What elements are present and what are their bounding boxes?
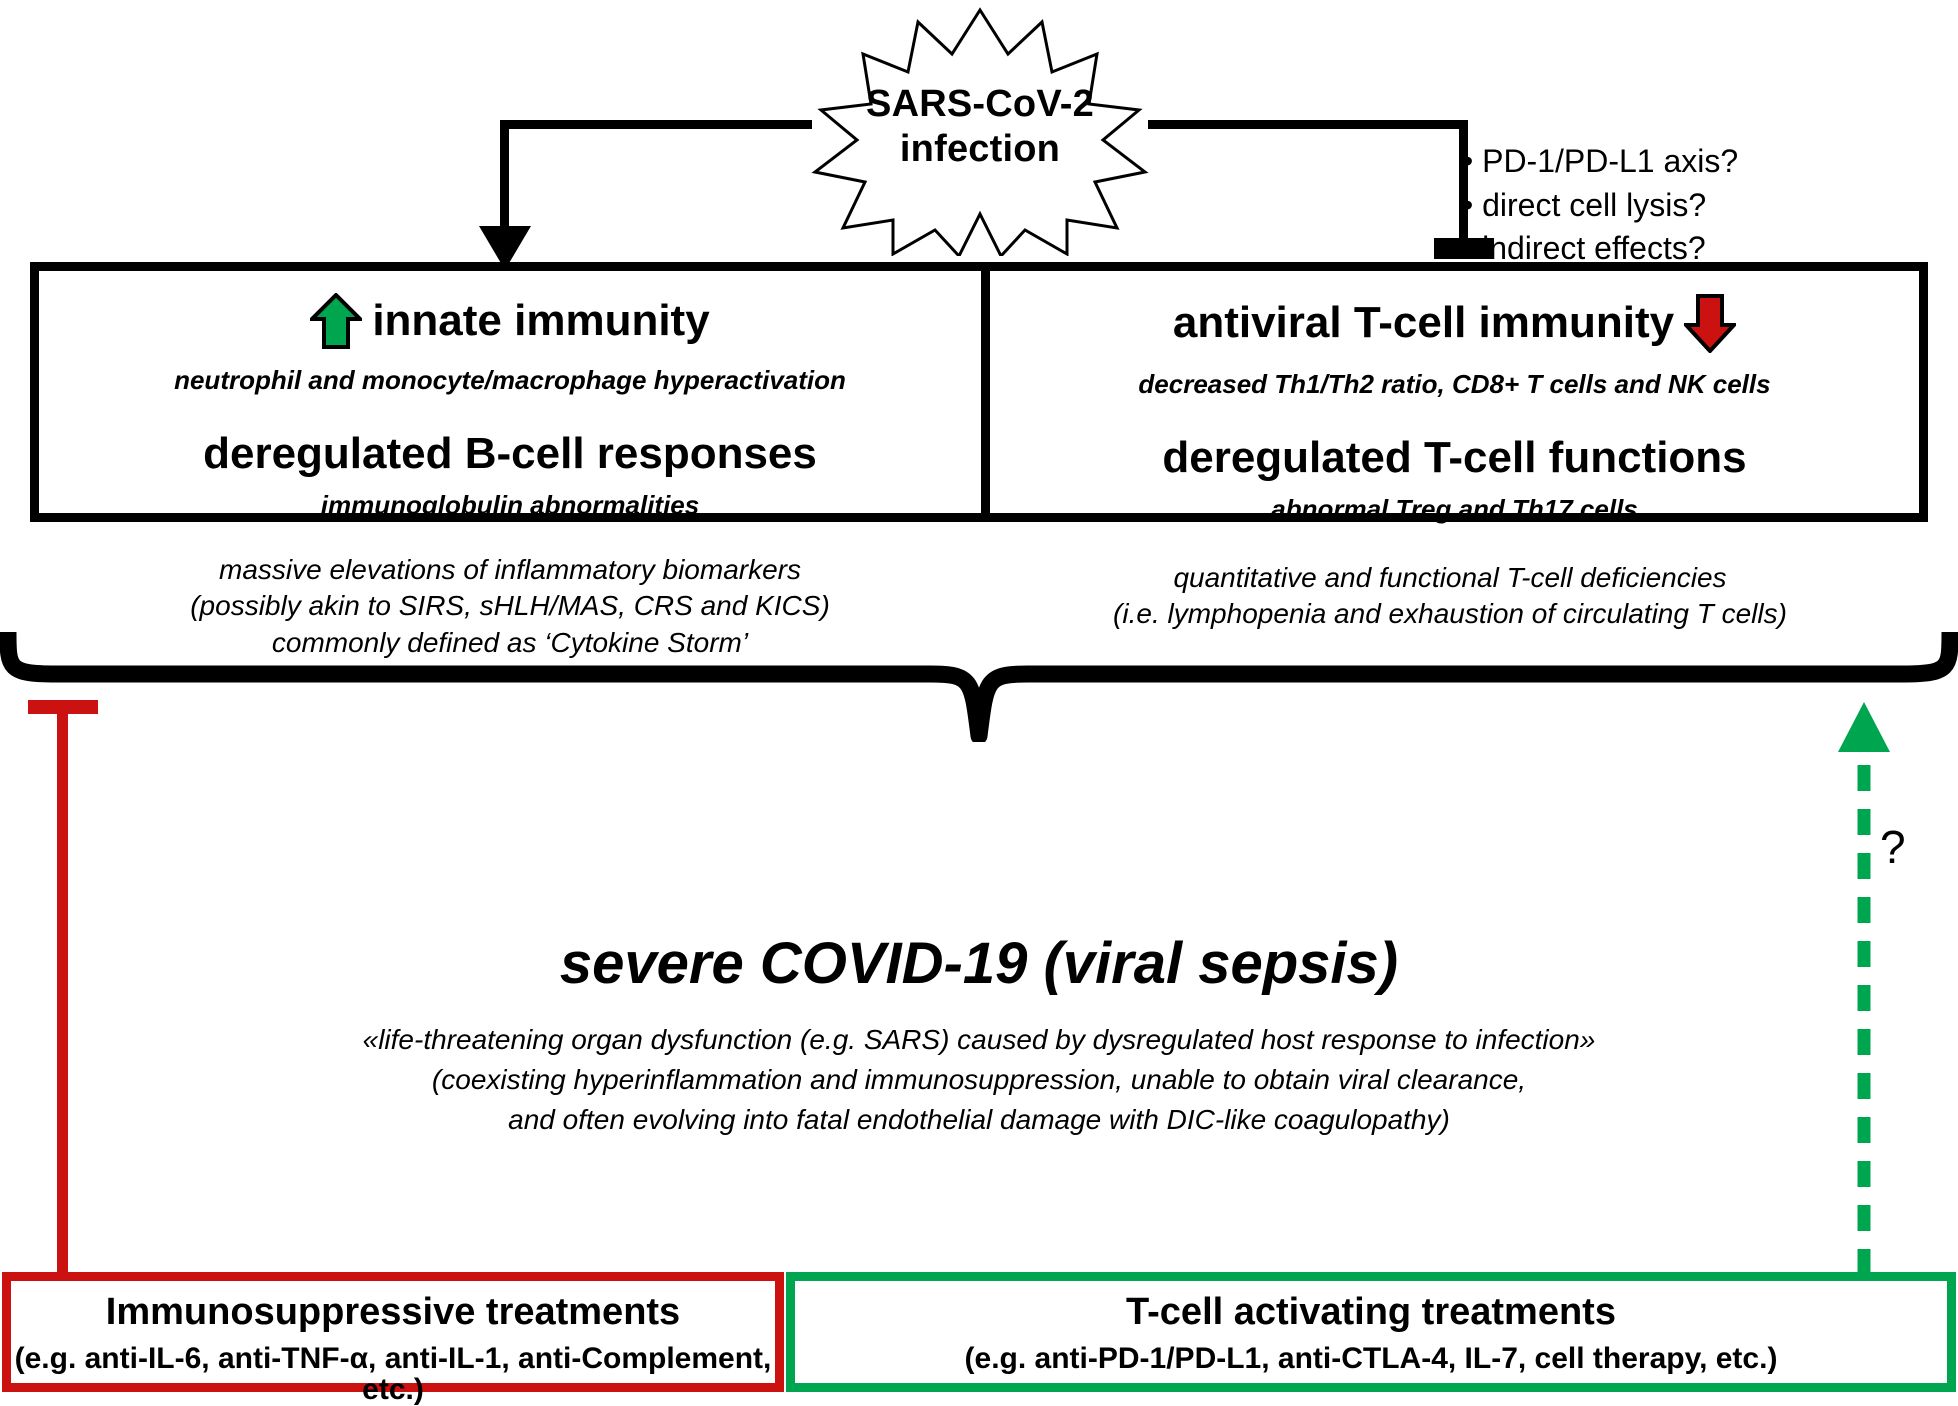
t-cell-functions-subtitle: abnormal Treg and Th17 cells [990,494,1919,525]
diagram-canvas: SARS-CoV-2 infection • PD-1/PD-L1 axis? … [0,0,1958,1392]
antiviral-heading-row: antiviral T-cell immunity [990,293,1919,353]
convergence-brace [0,622,1958,742]
question-item-2: • direct cell lysis? [1462,184,1882,228]
antiviral-immunity-title: antiviral T-cell immunity [1173,301,1674,345]
mechanism-questions-list: • PD-1/PD-L1 axis? • direct cell lysis? … [1462,140,1882,271]
innate-immunity-heading-row: innate immunity [39,293,981,349]
t-cell-activating-title: T-cell activating treatments [795,1293,1947,1333]
severe-covid-title: severe COVID-19 (viral sepsis) [0,930,1958,997]
green-dashed-activation-arrow [1834,700,1894,1275]
immunosuppressive-subtitle: (e.g. anti-IL-6, anti-TNF-α, anti-IL-1, … [11,1343,775,1406]
connector-right-horizontal [1148,120,1468,129]
left-caption-line-1: massive elevations of inflammatory bioma… [60,552,960,588]
left-caption-line-2: (possibly akin to SIRS, sHLH/MAS, CRS an… [60,588,960,624]
t-cell-functions-title: deregulated T-cell functions [990,436,1919,480]
connector-left-horizontal [500,120,812,129]
b-cell-responses-subtitle: immunoglobulin abnormalities [39,490,981,521]
innate-immunity-box: innate immunity neutrophil and monocyte/… [30,262,990,522]
uncertainty-question-mark: ? [1880,820,1906,874]
burst-line-2: infection [805,127,1155,172]
severe-covid-line-3: and often evolving into fatal endothelia… [179,1100,1779,1140]
sars-cov-2-burst: SARS-CoV-2 infection [805,6,1155,256]
immunosuppressive-title: Immunosuppressive treatments [11,1293,775,1333]
severe-covid-line-1: «life-threatening organ dysfunction (e.g… [179,1020,1779,1060]
innate-immunity-title: innate immunity [372,299,709,343]
t-cell-activating-treatments-box: T-cell activating treatments (e.g. anti-… [786,1272,1956,1392]
down-arrow-red-icon [1684,293,1736,353]
severe-covid-line-2: (coexisting hyperinflammation and immuno… [179,1060,1779,1100]
burst-line-1: SARS-CoV-2 [805,82,1155,127]
antiviral-immunity-subtitle: decreased Th1/Th2 ratio, CD8+ T cells an… [990,369,1919,400]
connector-left-vertical [500,120,509,230]
up-arrow-green-icon [310,293,362,349]
question-item-1: • PD-1/PD-L1 axis? [1462,140,1882,184]
red-inhibition-bar-icon [28,700,98,714]
b-cell-responses-title: deregulated B-cell responses [39,432,981,476]
burst-label: SARS-CoV-2 infection [805,82,1155,172]
red-inhibition-vertical [57,706,68,1272]
innate-immunity-subtitle: neutrophil and monocyte/macrophage hyper… [39,365,981,396]
t-cell-activating-subtitle: (e.g. anti-PD-1/PD-L1, anti-CTLA-4, IL-7… [795,1343,1947,1375]
severe-covid-description: «life-threatening organ dysfunction (e.g… [179,1020,1779,1139]
antiviral-t-cell-immunity-box: antiviral T-cell immunity decreased Th1/… [981,262,1928,522]
right-caption-line-1: quantitative and functional T-cell defic… [1000,560,1900,596]
immunosuppressive-treatments-box: Immunosuppressive treatments (e.g. anti-… [2,1272,784,1392]
